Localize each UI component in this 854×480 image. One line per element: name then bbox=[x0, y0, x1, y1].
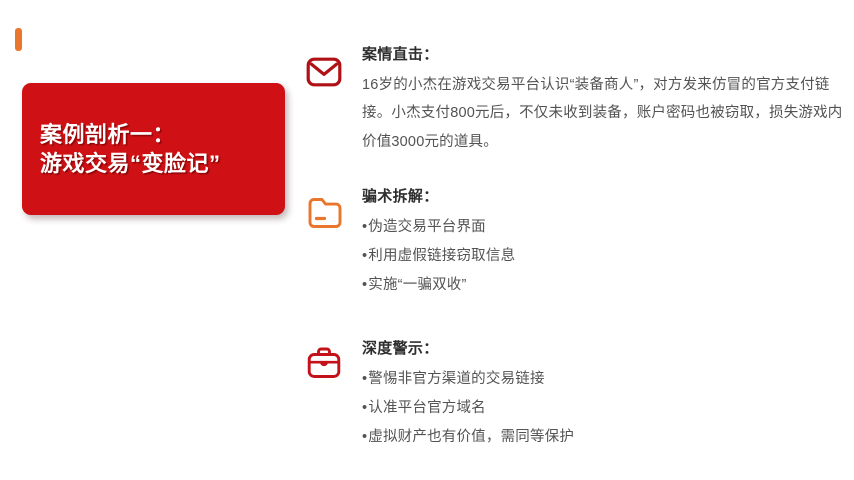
bullet-marker: • bbox=[362, 400, 367, 416]
section-paragraph: 16岁的小杰在游戏交易平台认识“装备商人”，对方发来仿冒的官方支付链接。小杰支付… bbox=[362, 71, 845, 156]
section-scam-breakdown: 骗术拆解： •伪造交易平台界面 •利用虚假链接窃取信息 •实施“一骗双收” bbox=[300, 186, 845, 338]
list-item: •利用虚假链接窃取信息 bbox=[362, 242, 845, 271]
list-item: •伪造交易平台界面 bbox=[362, 213, 845, 242]
section-heading: 骗术拆解： bbox=[362, 186, 845, 207]
folder-icon bbox=[305, 194, 343, 232]
section-body: 骗术拆解： •伪造交易平台界面 •利用虚假链接窃取信息 •实施“一骗双收” bbox=[362, 186, 845, 300]
content-column: 案情直击： 16岁的小杰在游戏交易平台认识“装备商人”，对方发来仿冒的官方支付链… bbox=[300, 44, 845, 468]
list-item-label: 虚拟财产也有价值，需同等保护 bbox=[368, 429, 574, 445]
bullet-list: •警惕非官方渠道的交易链接 •认准平台官方域名 •虚拟财产也有价值，需同等保护 bbox=[362, 365, 845, 452]
section-heading: 深度警示： bbox=[362, 338, 845, 359]
section-body: 深度警示： •警惕非官方渠道的交易链接 •认准平台官方域名 •虚拟财产也有价值，… bbox=[362, 338, 845, 452]
envelope-icon bbox=[305, 53, 343, 91]
bullet-list: •伪造交易平台界面 •利用虚假链接窃取信息 •实施“一骗双收” bbox=[362, 213, 845, 300]
list-item-label: 伪造交易平台界面 bbox=[368, 219, 486, 235]
list-item: •虚拟财产也有价值，需同等保护 bbox=[362, 423, 845, 452]
accent-bar bbox=[15, 28, 22, 51]
list-item-label: 实施“一骗双收” bbox=[368, 277, 466, 293]
bullet-marker: • bbox=[362, 248, 367, 264]
list-item: •警惕非官方渠道的交易链接 bbox=[362, 365, 845, 394]
bullet-marker: • bbox=[362, 371, 367, 387]
list-item: •认准平台官方域名 bbox=[362, 394, 845, 423]
list-item: •实施“一骗双收” bbox=[362, 271, 845, 300]
bullet-marker: • bbox=[362, 219, 367, 235]
slide-canvas: 案例剖析一： 游戏交易“变脸记” 案情直击： 16岁的小杰在游戏交易平台认识“装… bbox=[0, 0, 854, 480]
page-title: 案例剖析一： 游戏交易“变脸记” bbox=[22, 120, 221, 178]
section-heading: 案情直击： bbox=[362, 44, 845, 65]
title-card: 案例剖析一： 游戏交易“变脸记” bbox=[22, 83, 285, 215]
list-item-label: 警惕非官方渠道的交易链接 bbox=[368, 371, 544, 387]
section-deep-warning: 深度警示： •警惕非官方渠道的交易链接 •认准平台官方域名 •虚拟财产也有价值，… bbox=[300, 338, 845, 468]
section-body: 案情直击： 16岁的小杰在游戏交易平台认识“装备商人”，对方发来仿冒的官方支付链… bbox=[362, 44, 845, 156]
bullet-marker: • bbox=[362, 429, 367, 445]
list-item-label: 利用虚假链接窃取信息 bbox=[368, 248, 515, 264]
briefcase-icon bbox=[305, 344, 343, 382]
list-item-label: 认准平台官方域名 bbox=[368, 400, 486, 416]
bullet-marker: • bbox=[362, 277, 367, 293]
section-case-brief: 案情直击： 16岁的小杰在游戏交易平台认识“装备商人”，对方发来仿冒的官方支付链… bbox=[300, 44, 845, 186]
